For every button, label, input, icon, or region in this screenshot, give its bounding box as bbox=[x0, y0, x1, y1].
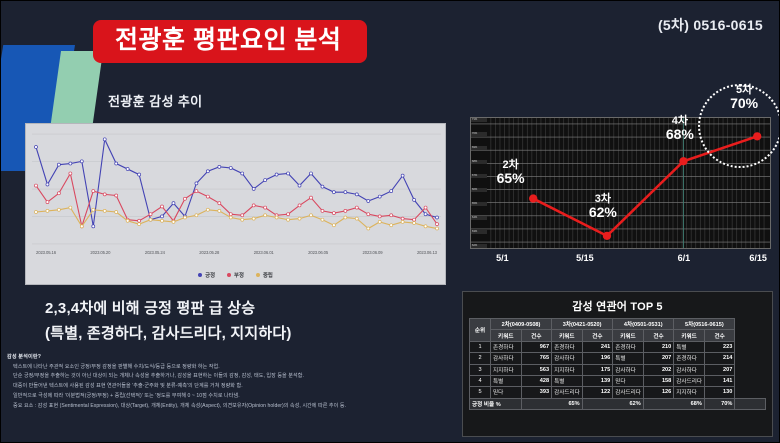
cell-keyword: 특별 bbox=[613, 353, 644, 364]
x-tick-label: 2023.05.28 bbox=[199, 250, 219, 262]
keyword-table-head: 순위2차(0409-0508)3차(0421-0520)4차(0501-0531… bbox=[470, 319, 766, 342]
cell-keyword: 지지하다 bbox=[674, 387, 705, 398]
cell-keyword: 특별 bbox=[674, 341, 705, 352]
highlight-circle bbox=[698, 84, 780, 168]
x-tick-label: 2023.06.09 bbox=[363, 250, 383, 262]
cell-count: 765 bbox=[521, 353, 552, 364]
keyword-table-body: 1존경하다967존경하다241존경하다210특별2232감사하다765감사하다1… bbox=[470, 341, 766, 398]
annotation-value: 65% bbox=[497, 171, 525, 187]
table-row: 2감사하다765감사하다196특별207존경하다214 bbox=[470, 353, 766, 364]
footnote-line: 텍스트에 나타난 주관적 요소인 긍정/부정 감정을 판별해 수치/도식/등급 … bbox=[7, 363, 455, 373]
keyword-table-subheader-row: 키워드건수키워드건수키워드건수키워드건수 bbox=[470, 330, 766, 341]
cell-keyword: 감사드리다 bbox=[674, 375, 705, 386]
cell-keyword: 존경하다 bbox=[491, 341, 522, 352]
keyword-table: 순위2차(0409-0508)3차(0421-0520)4차(0501-0531… bbox=[469, 318, 766, 410]
table-header-period: 5차(0516-0615) bbox=[674, 319, 735, 330]
cell-count: 126 bbox=[643, 387, 674, 398]
table-header-period: 3차(0421-0520) bbox=[552, 319, 613, 330]
x-tick-label: 2023.05.24 bbox=[145, 250, 165, 262]
cell-rank: 1 bbox=[470, 341, 491, 352]
cell-count: 241 bbox=[582, 341, 613, 352]
footer-pad-cell bbox=[735, 398, 766, 409]
table-subheader: 키워드 bbox=[552, 330, 583, 341]
cell-count: 563 bbox=[521, 364, 552, 375]
table-row: 5믿다393감사드리다122감사드리다126지지하다130 bbox=[470, 387, 766, 398]
legend-color-dot bbox=[227, 273, 231, 277]
table-row: 3지지하다563지지하다175감사하다202감사하다207 bbox=[470, 364, 766, 375]
cell-count: 428 bbox=[521, 375, 552, 386]
cell-count: 393 bbox=[521, 387, 552, 398]
round-date-label: (5차) 0516-0615 bbox=[658, 15, 763, 35]
cell-count: 175 bbox=[582, 364, 613, 375]
cell-count: 223 bbox=[704, 341, 735, 352]
x-tick-label: 2023.05.20 bbox=[90, 250, 110, 262]
summary-text: 2,3,4차에 비해 긍정 평판 급 상승 (특별, 존경하다, 감사드리다, … bbox=[45, 297, 345, 347]
cell-keyword: 특별 bbox=[491, 375, 522, 386]
cell-keyword: 믿다 bbox=[613, 375, 644, 386]
cell-keyword: 감사하다 bbox=[552, 353, 583, 364]
footnote-line: 중요 요소 : 감성 표현 (Sentimental Expression), … bbox=[7, 402, 455, 412]
sentiment-chart-svg bbox=[32, 128, 441, 248]
cell-keyword: 감사드리다 bbox=[613, 387, 644, 398]
footnote-line: 일반적으로 극성에 따라 '이분법적(긍정/부정) + 중립(선택적)' 또는 … bbox=[7, 392, 455, 402]
footer-ratio-value: 65% bbox=[521, 398, 582, 409]
sentiment-chart-subtitle: 전광훈 감성 추이 bbox=[108, 91, 203, 110]
cell-count: 207 bbox=[643, 353, 674, 364]
footer-ratio-value: 62% bbox=[582, 398, 643, 409]
cell-keyword: 지지하다 bbox=[491, 364, 522, 375]
footer-ratio-value: 70% bbox=[704, 398, 735, 409]
table-subheader: 건수 bbox=[582, 330, 613, 341]
x-tick-label: 5/1 bbox=[496, 253, 509, 263]
positive-ratio-x-axis: 5/15/156/16/15 bbox=[470, 253, 771, 267]
table-subheader: 건수 bbox=[521, 330, 552, 341]
legend-label: 중립 bbox=[263, 271, 273, 279]
keyword-table-title: 감성 연관어 TOP 5 bbox=[469, 298, 766, 314]
table-header-period: 4차(0501-0531) bbox=[613, 319, 674, 330]
legend-label: 부정 bbox=[234, 271, 244, 279]
footnote-block: 감성 분석이란? 텍스트에 나타난 주관적 요소인 긍정/부정 감정을 판별해 … bbox=[7, 353, 455, 412]
table-subheader: 건수 bbox=[704, 330, 735, 341]
sentiment-chart-plot bbox=[32, 128, 441, 248]
legend-color-dot bbox=[256, 273, 260, 277]
x-tick-label: 5/15 bbox=[576, 253, 594, 263]
page-title: 전광훈 평판요인 분석 bbox=[93, 20, 367, 63]
x-tick-label: 6/1 bbox=[678, 253, 691, 263]
cell-count: 967 bbox=[521, 341, 552, 352]
cell-keyword: 믿다 bbox=[491, 387, 522, 398]
cell-keyword: 존경하다 bbox=[552, 341, 583, 352]
table-subheader: 키워드 bbox=[674, 330, 705, 341]
cell-count: 122 bbox=[582, 387, 613, 398]
sentiment-chart-legend: 긍정부정중립 bbox=[26, 271, 445, 279]
annotation-value: 68% bbox=[666, 127, 694, 143]
table-row: 4특별428특별139믿다158감사드리다141 bbox=[470, 375, 766, 386]
cell-count: 141 bbox=[704, 375, 735, 386]
x-tick-label: 2023.05.16 bbox=[36, 250, 56, 262]
cell-keyword: 감사하다 bbox=[613, 364, 644, 375]
table-row: 1존경하다967존경하다241존경하다210특별223 bbox=[470, 341, 766, 352]
legend-label: 긍정 bbox=[205, 271, 215, 279]
table-header-period: 2차(0409-0508) bbox=[491, 319, 552, 330]
sentiment-trend-chart: 2023.05.162023.05.202023.05.242023.05.28… bbox=[25, 123, 446, 285]
keyword-table-card: 감성 연관어 TOP 5 순위2차(0409-0508)3차(0421-0520… bbox=[462, 291, 773, 437]
cell-keyword: 감사하다 bbox=[674, 364, 705, 375]
table-subheader: 건수 bbox=[643, 330, 674, 341]
sentiment-chart-x-axis: 2023.05.162023.05.202023.05.242023.05.28… bbox=[32, 250, 441, 262]
footnote-line: 대중이 만들어낸 텍스트에 사용된 감성 표현 연관어들을 '추출-군주화 및 … bbox=[7, 382, 455, 392]
footnote-heading: 감성 분석이란? bbox=[7, 353, 455, 360]
table-subheader: 키워드 bbox=[491, 330, 522, 341]
slide-root: 전광훈 평판요인 분석 (5차) 0516-0615 전광훈 감성 추이 202… bbox=[0, 0, 780, 443]
cell-count: 196 bbox=[582, 353, 613, 364]
cell-rank: 5 bbox=[470, 387, 491, 398]
cell-rank: 4 bbox=[470, 375, 491, 386]
annotation-value: 62% bbox=[589, 205, 617, 221]
table-header-rank: 순위 bbox=[470, 319, 491, 342]
keyword-table-period-row: 순위2차(0409-0508)3차(0421-0520)4차(0501-0531… bbox=[470, 319, 766, 330]
cell-count: 158 bbox=[643, 375, 674, 386]
cell-count: 214 bbox=[704, 353, 735, 364]
cell-keyword: 감사드리다 bbox=[552, 387, 583, 398]
summary-line-2: (특별, 존경하다, 감사드리다, 지지하다) bbox=[45, 322, 345, 347]
cell-keyword: 존경하다 bbox=[613, 341, 644, 352]
cell-keyword: 존경하다 bbox=[674, 353, 705, 364]
data-point-annotation: 2차65% bbox=[497, 159, 525, 187]
x-tick-label: 2023.06.05 bbox=[308, 250, 328, 262]
cell-count: 210 bbox=[643, 341, 674, 352]
footer-ratio-value: 68% bbox=[643, 398, 704, 409]
keyword-table-footer-row: 긍정 비율 %65%62%68%70% bbox=[470, 398, 766, 409]
positive-ratio-chart: 71%70%69%68%67%66%65%64%63%62% 5/15/156/… bbox=[462, 113, 773, 271]
x-tick-label: 2023.06.01 bbox=[254, 250, 274, 262]
x-tick-label: 6/15 bbox=[749, 253, 767, 263]
data-point-annotation: 4차68% bbox=[666, 115, 694, 143]
footer-label: 긍정 비율 % bbox=[470, 398, 522, 409]
legend-item: 중립 bbox=[256, 271, 273, 279]
data-point-annotation: 3차62% bbox=[589, 193, 617, 221]
cell-count: 202 bbox=[643, 364, 674, 375]
footnote-line: 단순 긍정/부정을 추출하는 것이 아닌 대상이 되는 개체나 속성을 추출하거… bbox=[7, 372, 455, 382]
cell-keyword: 지지하다 bbox=[552, 364, 583, 375]
table-subheader: 키워드 bbox=[613, 330, 644, 341]
summary-line-1: 2,3,4차에 비해 긍정 평판 급 상승 bbox=[45, 297, 345, 322]
cell-count: 130 bbox=[704, 387, 735, 398]
x-tick-label: 2023.06.13 bbox=[417, 250, 437, 262]
legend-color-dot bbox=[198, 273, 202, 277]
cell-count: 139 bbox=[582, 375, 613, 386]
legend-item: 부정 bbox=[227, 271, 244, 279]
cell-rank: 2 bbox=[470, 353, 491, 364]
cell-rank: 3 bbox=[470, 364, 491, 375]
cell-keyword: 감사하다 bbox=[491, 353, 522, 364]
legend-item: 긍정 bbox=[198, 271, 215, 279]
cell-keyword: 특별 bbox=[552, 375, 583, 386]
keyword-table-foot: 긍정 비율 %65%62%68%70% bbox=[470, 398, 766, 409]
cell-count: 207 bbox=[704, 364, 735, 375]
